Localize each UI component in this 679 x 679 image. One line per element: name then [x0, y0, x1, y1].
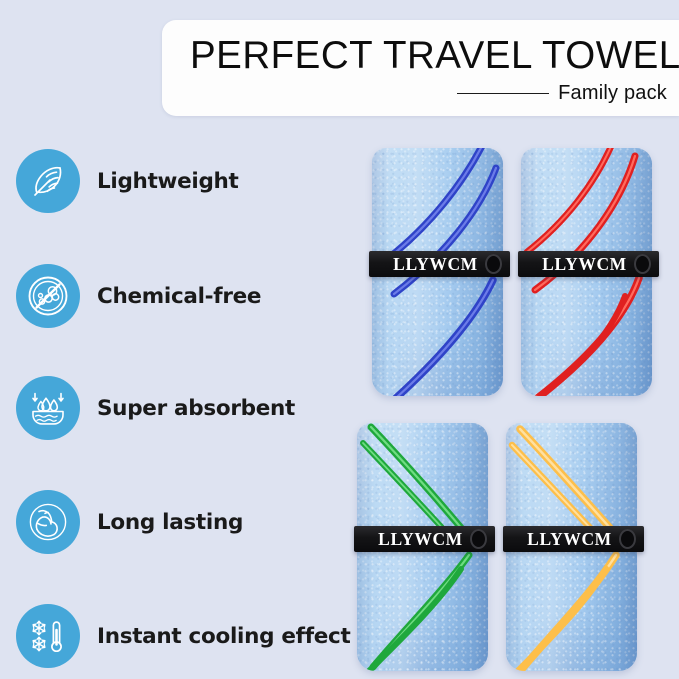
brand-band: LLYWCM — [518, 251, 659, 277]
brand-label: LLYWCM — [378, 529, 463, 550]
feature-item-instant-cooling: Instant cooling effect — [16, 603, 350, 669]
feature-item-chemical-free: Chemical-free — [16, 263, 261, 329]
towel-blue: LLYWCM — [372, 148, 503, 396]
feather-icon — [16, 149, 80, 213]
brand-label: LLYWCM — [542, 254, 627, 275]
feature-label: Lightweight — [97, 169, 239, 194]
brand-label: LLYWCM — [393, 254, 478, 275]
feature-label: Long lasting — [97, 510, 243, 535]
brand-band: LLYWCM — [354, 526, 495, 552]
towel-green: LLYWCM — [357, 423, 488, 671]
feature-label: Super absorbent — [97, 396, 295, 421]
water-absorb-icon — [16, 376, 80, 440]
band-buckle-icon — [619, 529, 636, 549]
snowflake-thermometer-icon — [16, 604, 80, 668]
page-title: PERFECT TRAVEL TOWEL — [190, 32, 671, 80]
band-buckle-icon — [485, 254, 502, 274]
subtitle-row: Family pack — [457, 82, 667, 105]
subtitle-text: Family pack — [558, 82, 667, 105]
brand-label: LLYWCM — [527, 529, 612, 550]
towel-yellow: LLYWCM — [506, 423, 637, 671]
brand-band: LLYWCM — [369, 251, 510, 277]
feature-item-long-lasting: Long lasting — [16, 489, 243, 555]
subtitle-divider — [457, 93, 549, 95]
band-buckle-icon — [470, 529, 487, 549]
brand-band: LLYWCM — [503, 526, 644, 552]
feature-item-super-absorbent: Super absorbent — [16, 375, 295, 441]
feature-label: Chemical-free — [97, 284, 261, 309]
no-chemicals-icon — [16, 264, 80, 328]
product-image-grid: LLYWCM LLYWCM — [345, 140, 679, 679]
title-banner: PERFECT TRAVEL TOWEL Family pack — [162, 20, 679, 116]
feature-item-lightweight: Lightweight — [16, 148, 239, 214]
flexed-bicep-icon — [16, 490, 80, 554]
towel-red: LLYWCM — [521, 148, 652, 396]
feature-label: Instant cooling effect — [97, 624, 350, 649]
band-buckle-icon — [634, 254, 651, 274]
